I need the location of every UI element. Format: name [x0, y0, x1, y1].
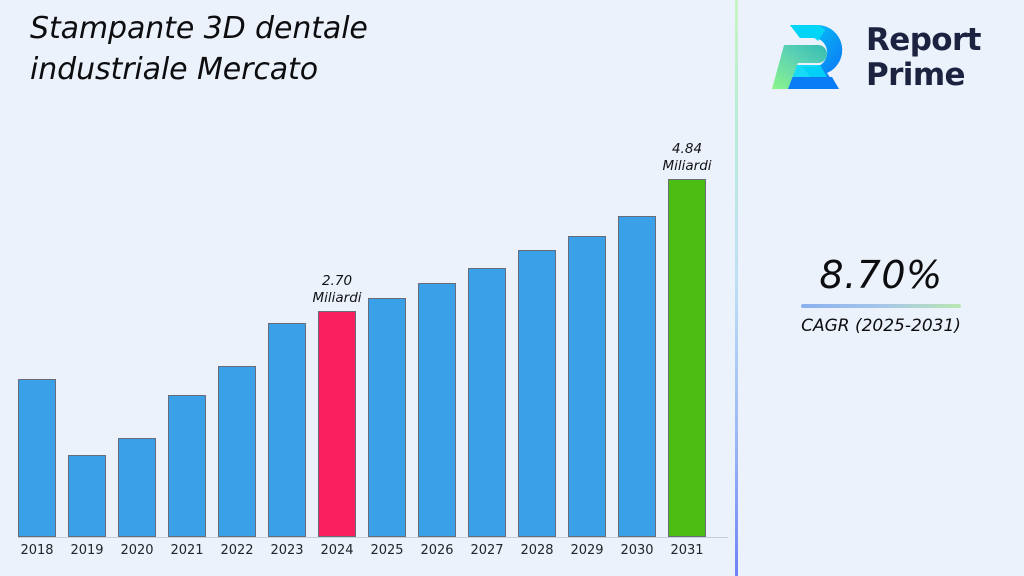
x-axis-tick-2031: 2031 — [657, 543, 717, 558]
bar-2030[interactable] — [618, 216, 656, 537]
bar-value-label-2031: 4.84 Miliardi — [636, 141, 738, 174]
x-axis-line — [18, 537, 728, 538]
bar-2026[interactable] — [418, 283, 456, 537]
bar-2018[interactable] — [18, 379, 56, 537]
bar-2029[interactable] — [568, 236, 606, 537]
poster-root: Stampante 3D dentale industriale Mercato… — [0, 0, 1024, 576]
cagr-divider — [801, 304, 961, 308]
bar-chart: 2018201920202021202220232.70 Miliardi202… — [0, 0, 736, 576]
bar-2019[interactable] — [68, 455, 106, 537]
brand-panel: Report Prime 8.70% CAGR (2025-2031) — [738, 0, 1024, 576]
brand-name: Report Prime — [866, 23, 981, 93]
cagr-value: 8.70% — [738, 252, 1024, 298]
report-prime-logo-icon — [770, 21, 854, 95]
chart-panel: Stampante 3D dentale industriale Mercato… — [0, 0, 736, 576]
bar-2031[interactable] — [668, 179, 706, 537]
bar-2024[interactable] — [318, 311, 356, 537]
bar-2022[interactable] — [218, 366, 256, 537]
cagr-caption: CAGR (2025-2031) — [738, 315, 1024, 337]
cagr-block: 8.70% CAGR (2025-2031) — [738, 252, 1024, 337]
bar-2028[interactable] — [518, 250, 556, 537]
bar-2027[interactable] — [468, 268, 506, 537]
bar-2023[interactable] — [268, 323, 306, 537]
bar-2020[interactable] — [118, 438, 156, 537]
bar-2021[interactable] — [168, 395, 206, 537]
bar-2025[interactable] — [368, 298, 406, 537]
brand-logo: Report Prime — [770, 12, 1018, 104]
